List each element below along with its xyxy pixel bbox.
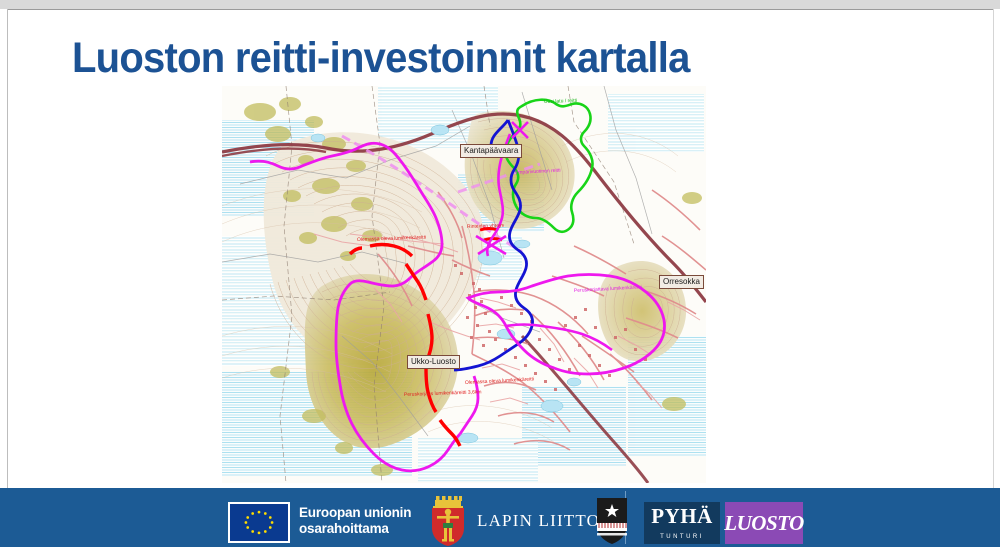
map-place-label: Kantapäävaara <box>460 144 522 158</box>
pyha-logo-main: PYHÄ <box>644 504 720 529</box>
eu-flag-icon <box>228 502 290 543</box>
eu-funding-text: Euroopan unionin osarahoittama <box>299 505 411 537</box>
map-route-note: Rinteiden yhteys <box>467 223 504 230</box>
route-investment-map: Kantapäävaara Orresokka Ukko-Luosto Olem… <box>222 86 706 483</box>
lapland-coat-of-arms-icon <box>430 496 466 546</box>
slide-right-border <box>993 9 1000 488</box>
eu-funding-line2: osarahoittama <box>299 521 411 537</box>
slide: Luoston reitti-investoinnit kartalla <box>0 0 1000 547</box>
pyha-tunturi-logo: PYHÄ TUNTURI <box>644 502 720 544</box>
eu-funding-line1: Euroopan unionin <box>299 505 411 521</box>
municipal-coat-of-arms-icon <box>596 497 628 544</box>
map-place-label: Ukko-Luosto <box>407 355 460 369</box>
map-route-note: Uusi latu / reitti <box>544 98 577 105</box>
pyha-logo-sub: TUNTURI <box>644 534 720 540</box>
map-place-label: Orresokka <box>659 275 704 289</box>
slide-top-border <box>0 0 1000 10</box>
lapin-liitto-label: LAPIN LIITTO <box>477 511 600 531</box>
luosto-logo-text: LUOSTO <box>725 502 803 544</box>
slide-left-border <box>0 9 8 488</box>
page-title: Luoston reitti-investoinnit kartalla <box>72 36 690 81</box>
luosto-logo: LUOSTO <box>725 502 803 544</box>
eu-stars <box>230 504 288 541</box>
